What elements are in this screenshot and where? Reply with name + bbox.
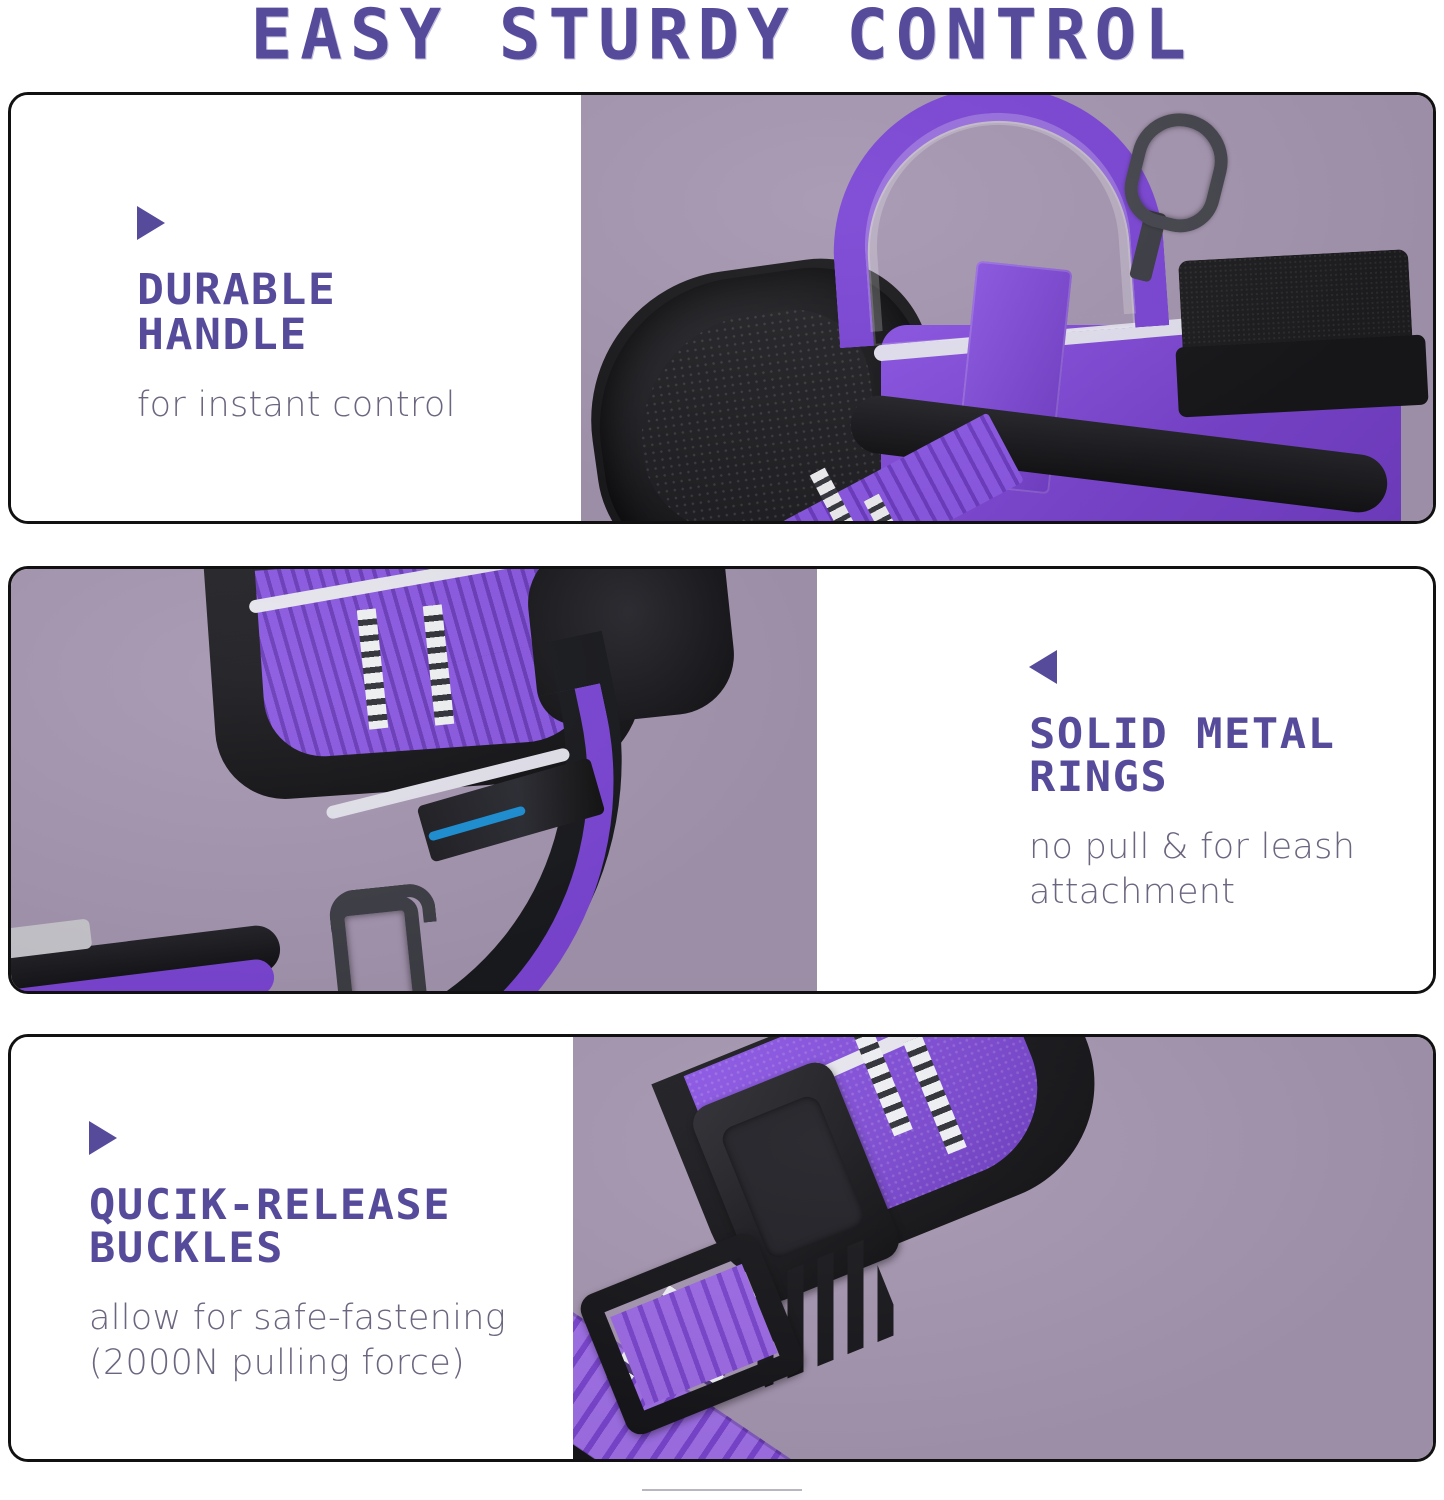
product-photo-durable-handle — [581, 95, 1433, 521]
page-title: EASY STURDY CONTROL — [250, 0, 1193, 75]
feature-text-pane: DURABLE HANDLE for instant control — [11, 95, 581, 521]
triangle-left-icon — [1029, 650, 1057, 684]
feature-headline: QUCIK-RELEASE BUCKLES — [89, 1183, 561, 1270]
product-photo-quick-release-buckles — [573, 1037, 1433, 1459]
harness-metal-leash-ring — [329, 895, 433, 991]
feature-panel-quick-release-buckles: QUCIK-RELEASE BUCKLES allow for safe-fas… — [8, 1034, 1436, 1462]
bottom-hairline — [642, 1489, 802, 1491]
feature-panel-solid-metal-rings: SOLID METAL RINGS no pull & for leash at… — [8, 566, 1436, 994]
feature-subline: no pull & for leash attachment — [1029, 825, 1403, 915]
feature-subline: for instant control — [137, 383, 551, 428]
feature-text-pane: QUCIK-RELEASE BUCKLES allow for safe-fas… — [11, 1037, 573, 1459]
infographic-page: EASY STURDY CONTROL DURABLE HANDLE for i… — [0, 0, 1444, 1500]
feature-headline: SOLID METAL RINGS — [1029, 712, 1418, 799]
feature-panel-durable-handle: DURABLE HANDLE for instant control — [8, 92, 1436, 524]
feature-subline: allow for safe-fastening (2000N pulling … — [89, 1296, 543, 1386]
feature-text-pane: SOLID METAL RINGS no pull & for leash at… — [817, 569, 1433, 991]
triangle-right-icon — [137, 206, 165, 240]
product-photo-solid-metal-rings — [11, 569, 817, 991]
banner: EASY STURDY CONTROL — [0, 0, 1444, 72]
triangle-right-icon — [89, 1121, 117, 1155]
feature-headline: DURABLE HANDLE — [137, 268, 568, 357]
harness-velcro-patch-lower — [1175, 335, 1428, 418]
